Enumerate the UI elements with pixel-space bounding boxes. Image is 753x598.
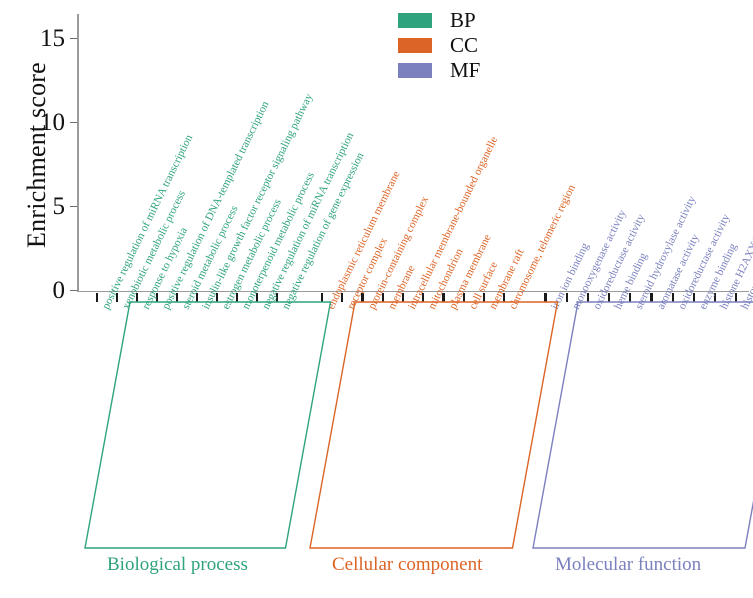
y-tick-label-5: 5 (53, 194, 66, 219)
legend-label-bp: BP (450, 10, 476, 31)
legend: BPCCMF (398, 8, 528, 83)
group-label-cc: Cellular component (332, 554, 482, 576)
y-tick-10 (70, 122, 77, 124)
legend-item-cc[interactable]: CC (398, 33, 528, 58)
y-tick-label-10: 10 (40, 110, 65, 135)
y-tick-5 (70, 206, 77, 208)
x-tick-cc-1 (321, 293, 323, 302)
go-enrichment-chart: Enrichment score 051015 positive regulat… (0, 0, 753, 598)
y-tick-0 (70, 290, 77, 292)
group-label-bp: Biological process (107, 554, 248, 576)
group-label-mf: Molecular function (555, 554, 701, 576)
y-tick-15 (70, 38, 77, 40)
legend-swatch-bp (398, 13, 432, 28)
x-tick-bp-1 (96, 293, 98, 302)
legend-item-bp[interactable]: BP (398, 8, 528, 33)
legend-swatch-mf (398, 63, 432, 78)
y-tick-label-0: 0 (53, 278, 66, 303)
x-tick-mf-1 (544, 293, 546, 302)
legend-item-mf[interactable]: MF (398, 58, 528, 83)
legend-label-mf: MF (450, 60, 480, 81)
y-tick-label-15: 15 (40, 26, 65, 51)
legend-swatch-cc (398, 38, 432, 53)
legend-label-cc: CC (450, 35, 478, 56)
